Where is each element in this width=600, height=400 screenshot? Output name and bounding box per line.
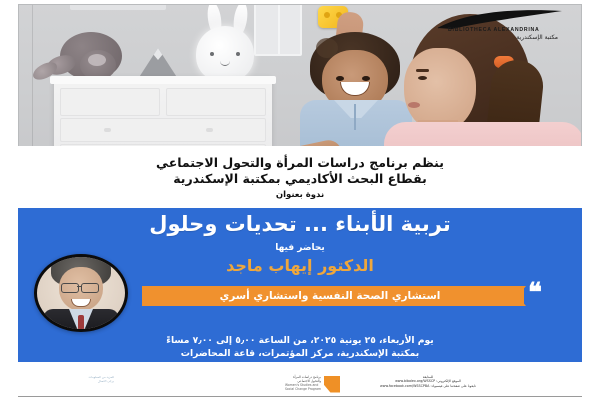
logo-arabic-text: مكتبة الإسكندرية	[516, 34, 558, 41]
page-title: تربية الأبناء ... تحديات وحلول	[18, 212, 582, 236]
speaker-intro-label: يحاضر فيها	[18, 243, 582, 253]
glasses-lens-right-icon	[81, 283, 99, 293]
bunny-lamp-icon	[196, 26, 254, 82]
event-details: يوم الأربعاء، ٢٥ يونية ٢٠٢٥، من الساعة ٥…	[18, 334, 582, 360]
drawer-knob	[206, 128, 213, 132]
footer-contact-facebook[interactable]: تابعونا على صفحتنا على فيسبوك: www.faceb…	[318, 384, 538, 388]
speaker-tie	[78, 315, 84, 332]
boy-eye-left	[336, 76, 344, 81]
glasses-bridge-icon	[77, 286, 81, 287]
dresser-drawer	[60, 118, 266, 142]
program-logo-en-2: Social Change Program	[285, 388, 321, 392]
quote-mark-icon: ❝	[528, 280, 541, 306]
program-logo-text: برنامج دراسات المرأة والتحول الاجتماعي W…	[285, 376, 321, 391]
seminar-poster: BIBLIOTHECA ALEXANDRINA مكتبة الإسكندرية…	[0, 0, 600, 400]
bunny-eye-right	[236, 52, 240, 56]
dresser-top	[50, 76, 276, 84]
mother-eyebrow	[416, 69, 429, 72]
footer-side-note: للمزيد من المعلومات يرجى الاتصال	[24, 376, 114, 383]
organizer-line-1: ينظم برنامج دراسات المرأة والتحول الاجتم…	[18, 155, 582, 171]
event-datetime: يوم الأربعاء، ٢٥ يونية ٢٠٢٥، من الساعة ٥…	[18, 334, 582, 347]
mother-lips	[408, 102, 420, 108]
boy-placket	[354, 104, 356, 130]
bibliotheca-alexandrina-logo: BIBLIOTHECA ALEXANDRINA مكتبة الإسكندرية	[436, 10, 564, 44]
footer-divider	[18, 396, 582, 397]
footer-side-note-2: يرجى الاتصال	[24, 380, 114, 384]
bunny-eye-left	[210, 52, 214, 56]
mother-eye	[418, 76, 427, 80]
organizer-block: ينظم برنامج دراسات المرأة والتحول الاجتم…	[18, 155, 582, 187]
dresser-drawer	[60, 88, 160, 116]
event-venue: بمكتبة الإسكندرية، مركز المؤتمرات، قاعة …	[18, 347, 582, 360]
dresser-drawer	[166, 88, 266, 116]
drawer-knob	[104, 128, 111, 132]
footer-contact: للمتابعة الموقع الإلكتروني: www.bibalex.…	[318, 375, 538, 388]
seminar-label: ندوة بعنوان	[18, 190, 582, 200]
logo-latin-text: BIBLIOTHECA ALEXANDRINA	[448, 27, 540, 33]
teddy-bear-patch	[88, 54, 106, 66]
glasses-lens-left-icon	[61, 283, 79, 293]
boy-eye-right	[362, 76, 370, 81]
window-frame	[254, 4, 302, 56]
wall-shelf	[70, 4, 166, 10]
speaker-avatar	[34, 254, 128, 332]
organizer-line-2: بقطاع البحث الأكاديمي بمكتبة الإسكندرية	[18, 171, 582, 187]
bunny-mouth	[220, 60, 230, 66]
speaker-role-label: استشاري الصحة النفسية واستشاري أسري	[150, 286, 510, 306]
